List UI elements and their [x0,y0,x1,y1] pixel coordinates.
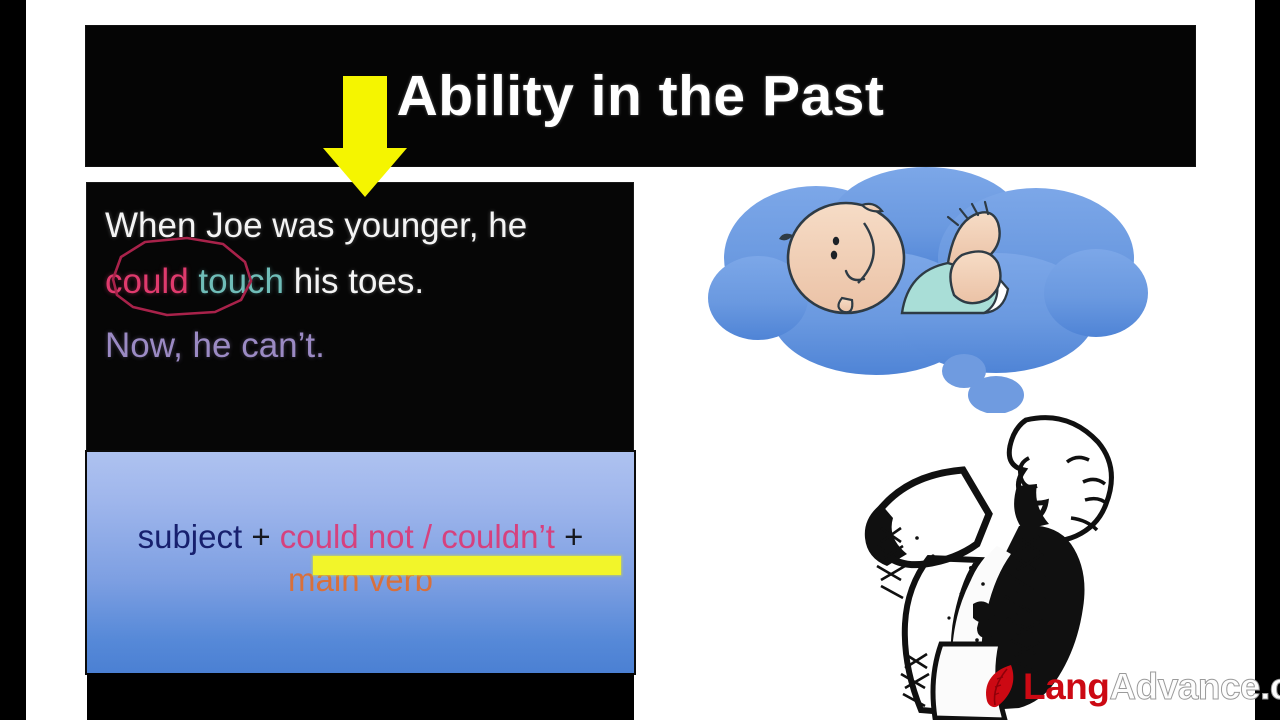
sentence-word-could: could [105,262,189,301]
page-title: Ability in the Past [86,26,1195,166]
letterbox-bar-left [0,0,26,720]
sentence-part1: When Joe was younger, he [105,206,527,245]
formula-panel: subject + could not / couldn’t + main ve… [87,452,634,673]
annotation-highlight-bar [313,556,621,575]
letterbox-bar-right [1255,0,1280,720]
panel-bottom-filler [87,673,634,720]
brand-logo[interactable]: Lang Advance.com [981,662,1280,710]
title-banner: Ability in the Past [86,26,1195,166]
formula-subject: subject [138,518,243,555]
slide-stage: Ability in the Past When Joe was younger… [0,0,1280,720]
sentence-word-touch: touch [198,262,284,301]
formula-modal: could not / couldn’t [280,518,555,555]
sentence-now-line: Now, he can’t. [105,326,325,365]
down-arrow-icon [318,76,412,198]
logo-advance-text: Advance.com [1109,668,1280,705]
logo-lang-text: Lang [1023,668,1109,705]
formula-plus-1: + [242,518,280,555]
formula-plus-2: + [555,518,583,555]
slide-canvas: Ability in the Past When Joe was younger… [26,0,1255,720]
leaf-icon [981,663,1019,709]
sentence-text: When Joe was younger, he could touch his… [105,199,619,373]
sentence-part2: his toes. [284,262,424,301]
thought-bubble-with-baby-illustration [696,163,1156,413]
sentence-panel: When Joe was younger, he could touch his… [87,183,633,453]
